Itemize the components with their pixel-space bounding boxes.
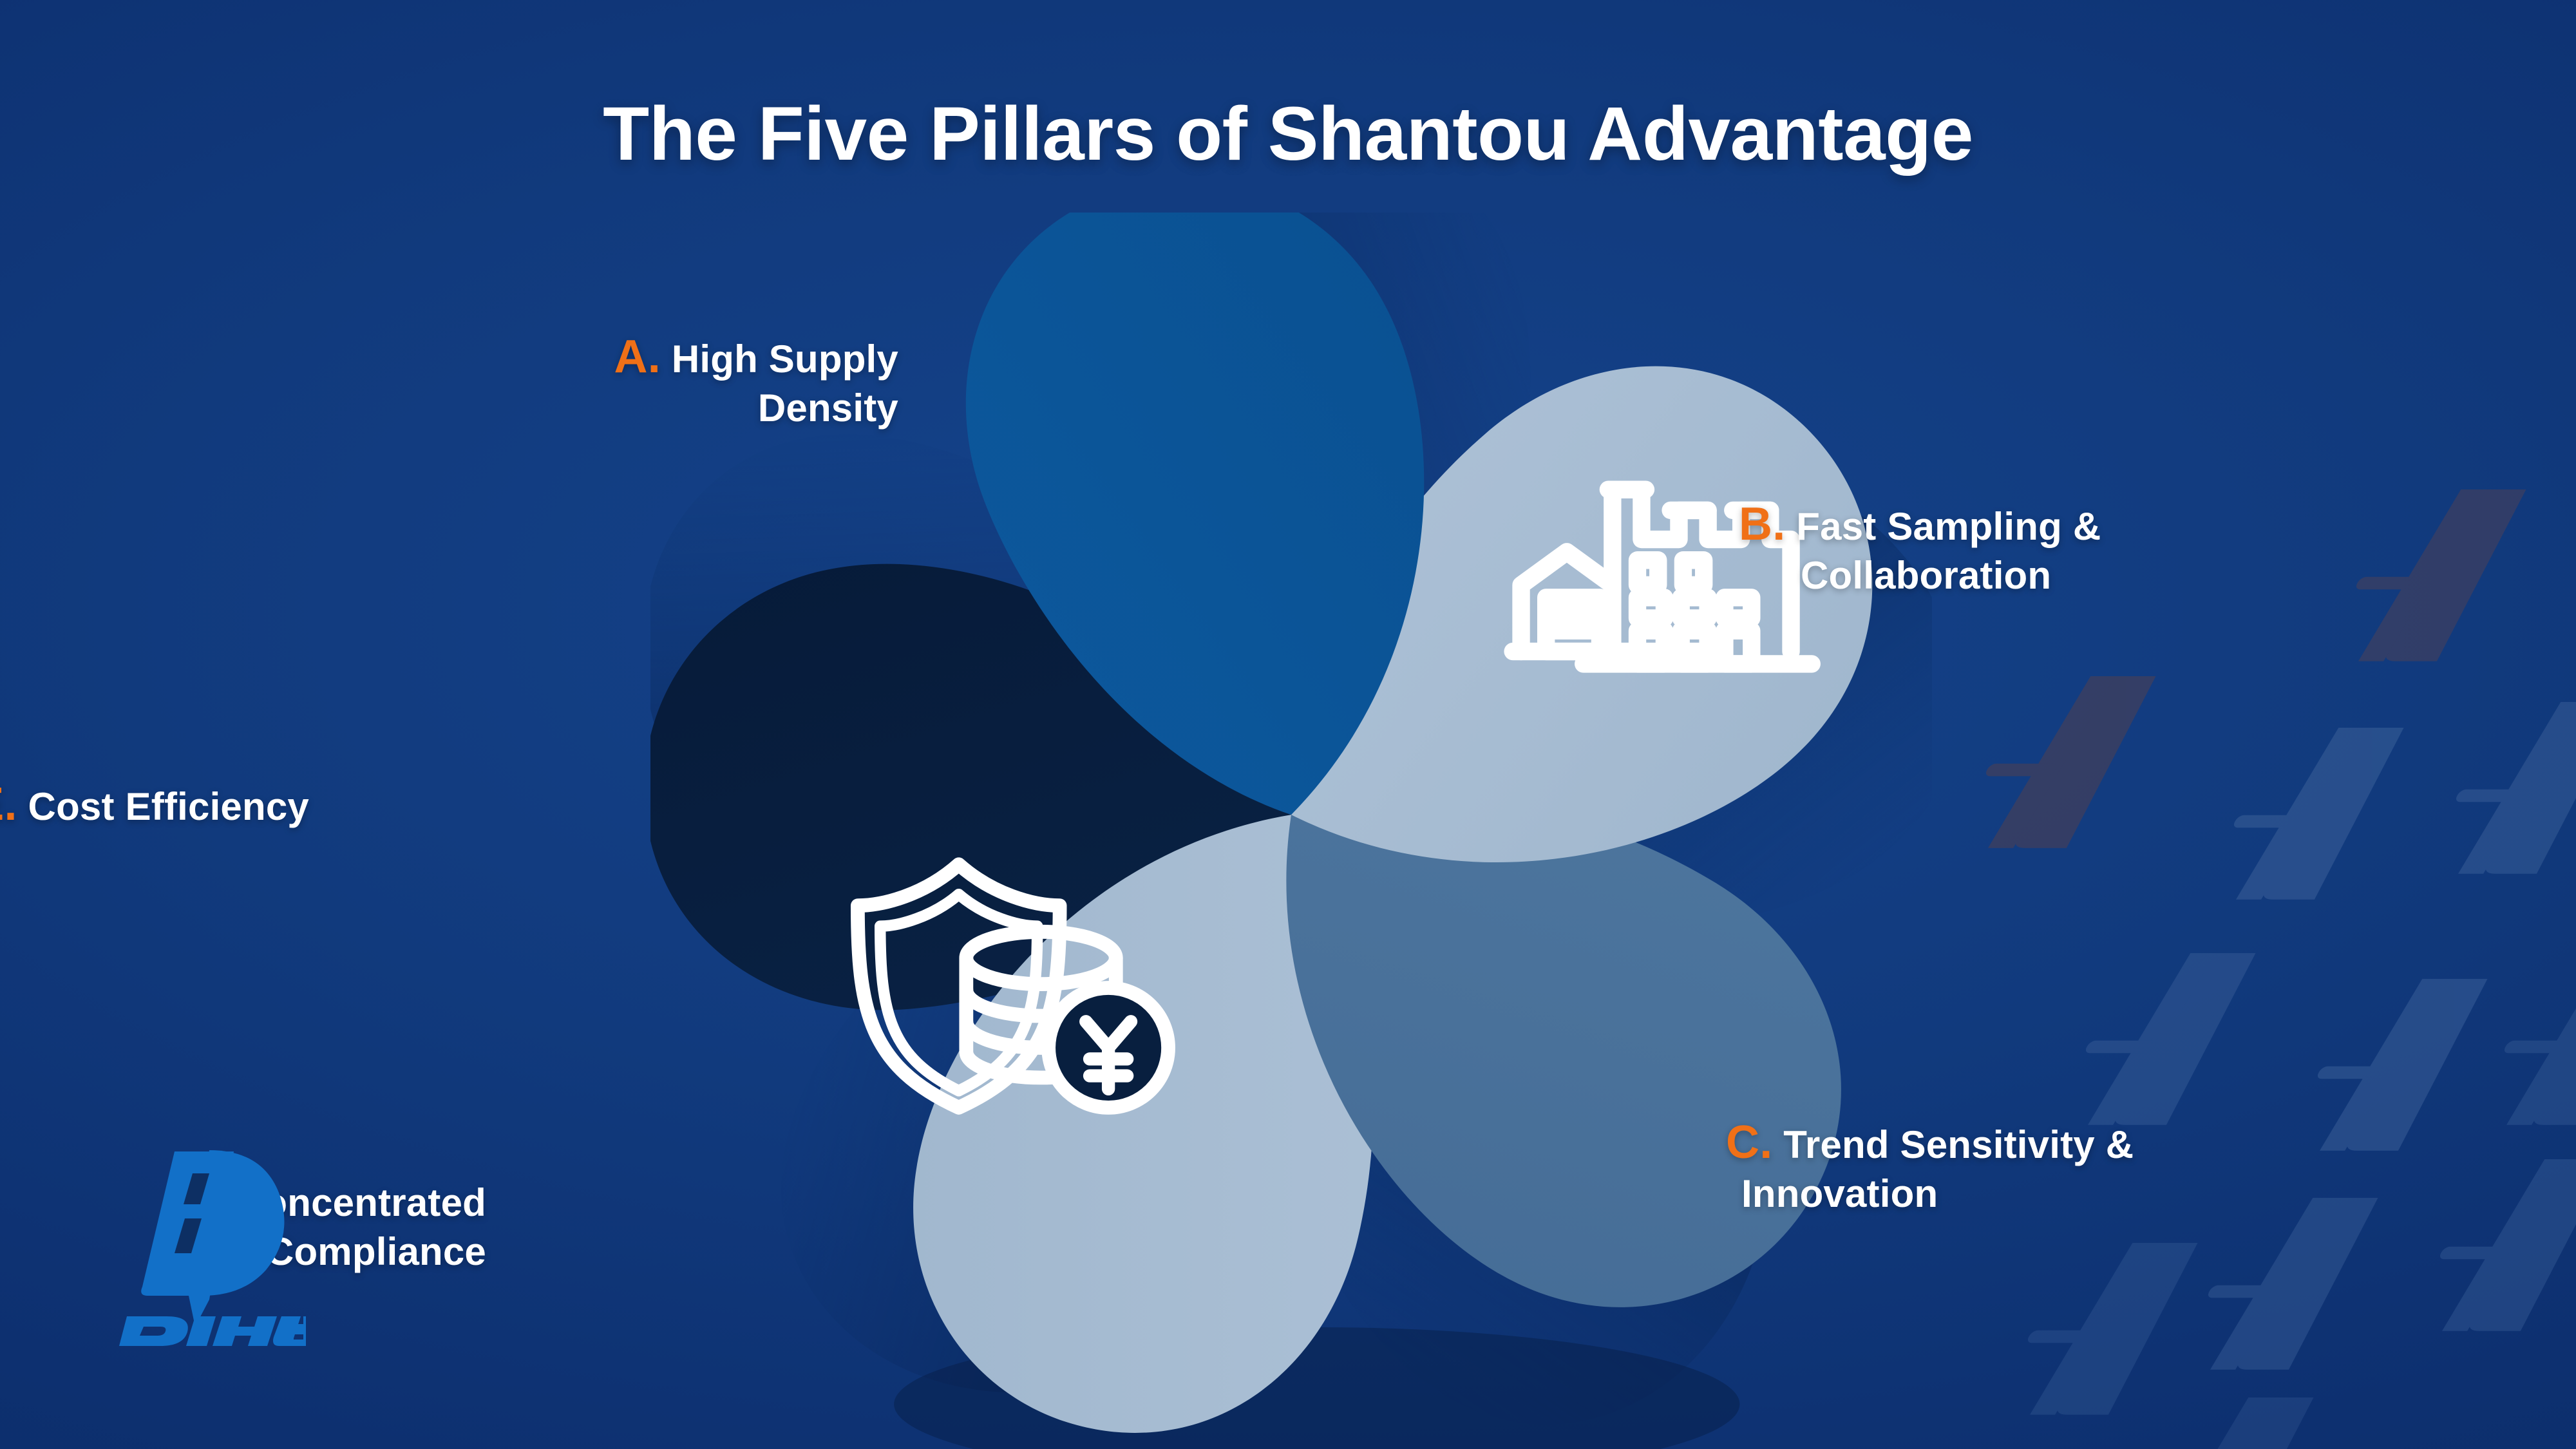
pillar-line2-c: Innovation bbox=[1726, 1170, 2267, 1218]
pillar-key-c: C. bbox=[1726, 1117, 1772, 1168]
pillar-line2-a: Density bbox=[409, 384, 898, 433]
page-title: The Five Pillars of Shantou Advantage bbox=[0, 90, 2576, 178]
pillar-label-e[interactable]: E. Cost Efficiency bbox=[0, 782, 309, 831]
deco-glyph-group bbox=[1963, 489, 2576, 1449]
pillar-key-e: E. bbox=[0, 779, 17, 830]
dihua-logo[interactable] bbox=[113, 1133, 306, 1346]
pillar-label-c[interactable]: C. Trend Sensitivity & Innovation bbox=[1726, 1121, 2267, 1218]
pillar-label-a[interactable]: A. High Supply Density bbox=[409, 335, 898, 433]
pillar-line1-b: Fast Sampling & bbox=[1796, 505, 2101, 548]
pillar-line2-b: Collaboration bbox=[1739, 551, 2267, 600]
dihua-wordmark bbox=[119, 1316, 306, 1346]
pillar-line1-e: Cost Efficiency bbox=[28, 785, 309, 828]
dihua-d-mark bbox=[141, 1150, 284, 1327]
pillar-key-a: A. bbox=[614, 331, 661, 383]
pillar-line1-a: High Supply bbox=[672, 337, 898, 381]
pillar-key-b: B. bbox=[1739, 498, 1785, 550]
infographic-canvas: The Five Pillars of Shantou Advantage bbox=[0, 0, 2576, 1449]
pillar-line1-c: Trend Sensitivity & bbox=[1783, 1123, 2134, 1166]
pillar-label-b[interactable]: B. Fast Sampling & Collaboration bbox=[1739, 502, 2267, 600]
